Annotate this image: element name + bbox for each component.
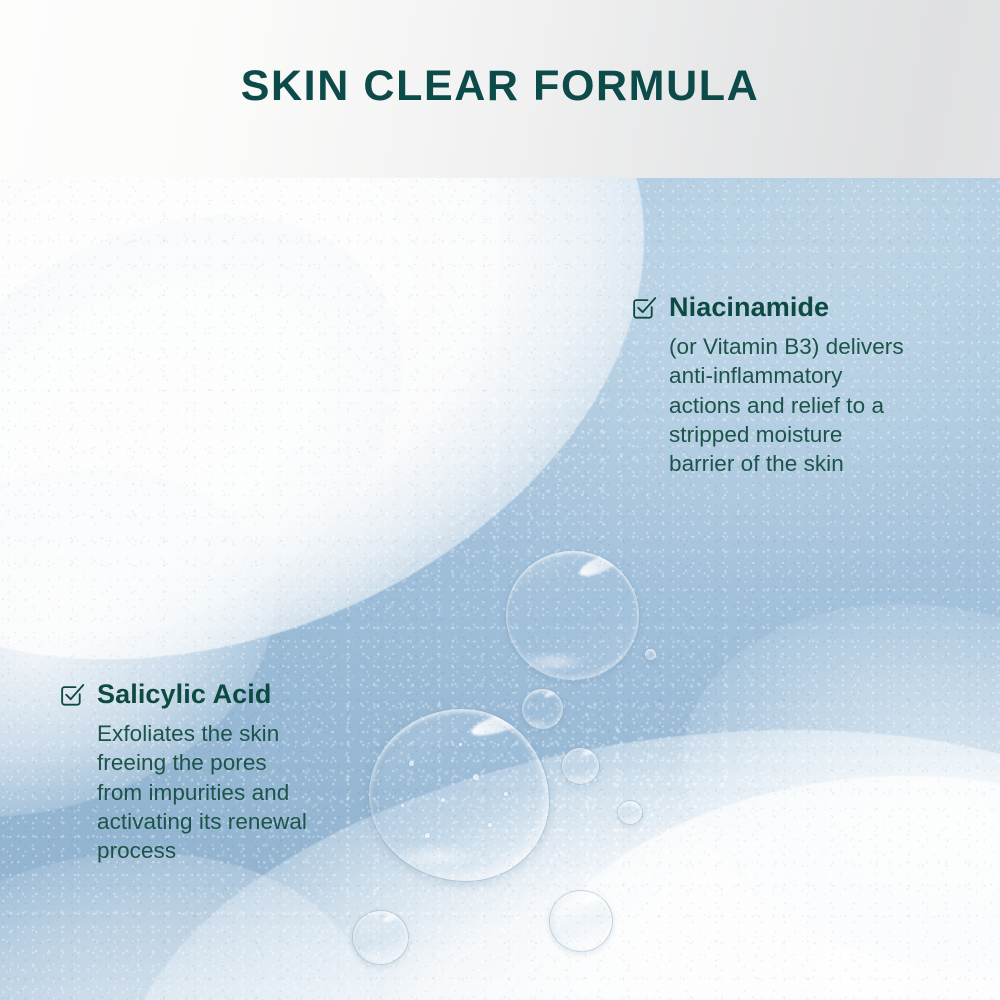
feature-niacinamide: Niacinamide (or Vitamin B3) delivers ant… xyxy=(630,293,960,478)
feature-niacinamide-title: Niacinamide xyxy=(669,293,829,321)
bubble xyxy=(441,798,445,802)
water-droplet-small-b xyxy=(561,747,600,785)
feature-salicylic-acid-heading: Salicylic Acid xyxy=(58,680,378,709)
water-droplet-small-a xyxy=(521,688,564,730)
bubble xyxy=(473,774,479,780)
checkbox-checked-icon xyxy=(630,295,657,322)
checkbox-checked-icon xyxy=(58,682,85,709)
water-droplet-tiny-a xyxy=(617,800,643,825)
bubble xyxy=(488,823,492,827)
feature-niacinamide-body: (or Vitamin B3) delivers anti-inflammato… xyxy=(669,332,960,478)
bubble xyxy=(409,761,414,766)
feature-salicylic-acid-title: Salicylic Acid xyxy=(97,680,272,708)
feature-salicylic-acid-body: Exfoliates the skin freeing the pores fr… xyxy=(97,719,378,865)
bubble xyxy=(425,833,430,838)
water-droplet-tiny-b xyxy=(644,648,657,661)
page-title: SKIN CLEAR FORMULA xyxy=(0,0,1000,178)
water-droplet-small-c xyxy=(352,910,409,965)
bubble xyxy=(401,804,404,807)
water-droplet-large-upper xyxy=(505,550,640,681)
feature-salicylic-acid: Salicylic Acid Exfoliates the skin freei… xyxy=(58,680,378,865)
bubble xyxy=(459,743,462,746)
bubble xyxy=(504,792,508,796)
water-droplet-largest xyxy=(368,708,550,882)
water-droplet-small-d xyxy=(549,890,613,952)
promo-graphic: Niacinamide (or Vitamin B3) delivers ant… xyxy=(0,0,1000,1000)
feature-niacinamide-heading: Niacinamide xyxy=(630,293,960,322)
